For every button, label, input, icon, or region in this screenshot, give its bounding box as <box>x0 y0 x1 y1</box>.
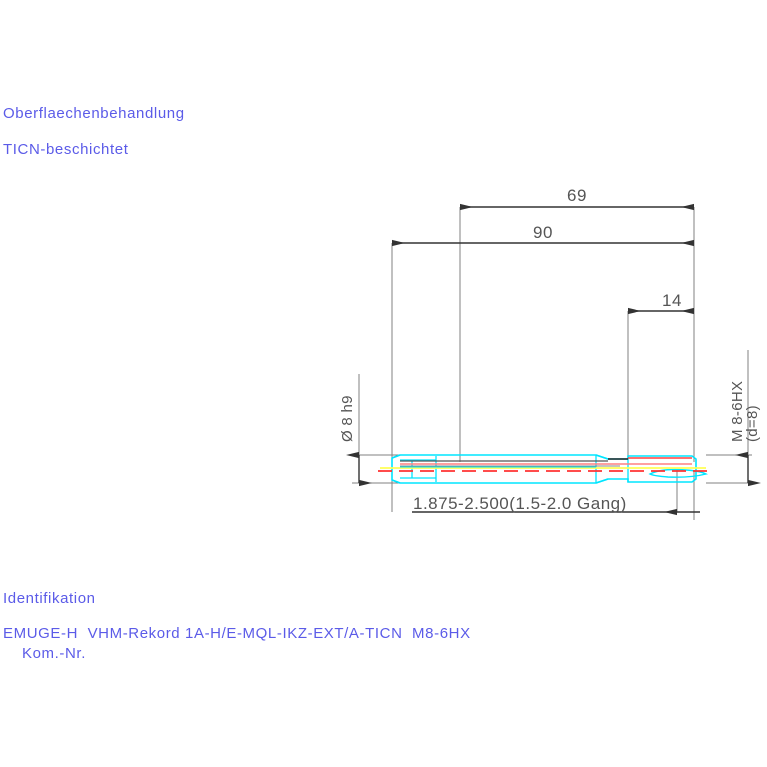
dim-text-90: 90 <box>533 223 553 242</box>
tool-outer-profile <box>392 455 696 483</box>
shank-chamfer <box>392 455 400 483</box>
technical-drawing: 69 90 14 Ø 8 h9 M 8-6HX (d=8) 1.875-2.50… <box>0 0 767 767</box>
shank-land-lines <box>400 460 436 478</box>
cad-drawing-canvas: Oberflaechenbehandlung TICN-beschichtet … <box>0 0 767 767</box>
dim-text-pitch-note: 1.875-2.500(1.5-2.0 Gang) <box>413 494 627 513</box>
dim-text-69: 69 <box>567 186 587 205</box>
dim-text-thread-core: (d=8) <box>744 405 761 442</box>
shank-section-lines <box>412 455 628 483</box>
tool-body <box>378 455 710 483</box>
dim-text-14: 14 <box>662 291 682 310</box>
dim-text-shank-diameter: Ø 8 h9 <box>339 395 356 442</box>
